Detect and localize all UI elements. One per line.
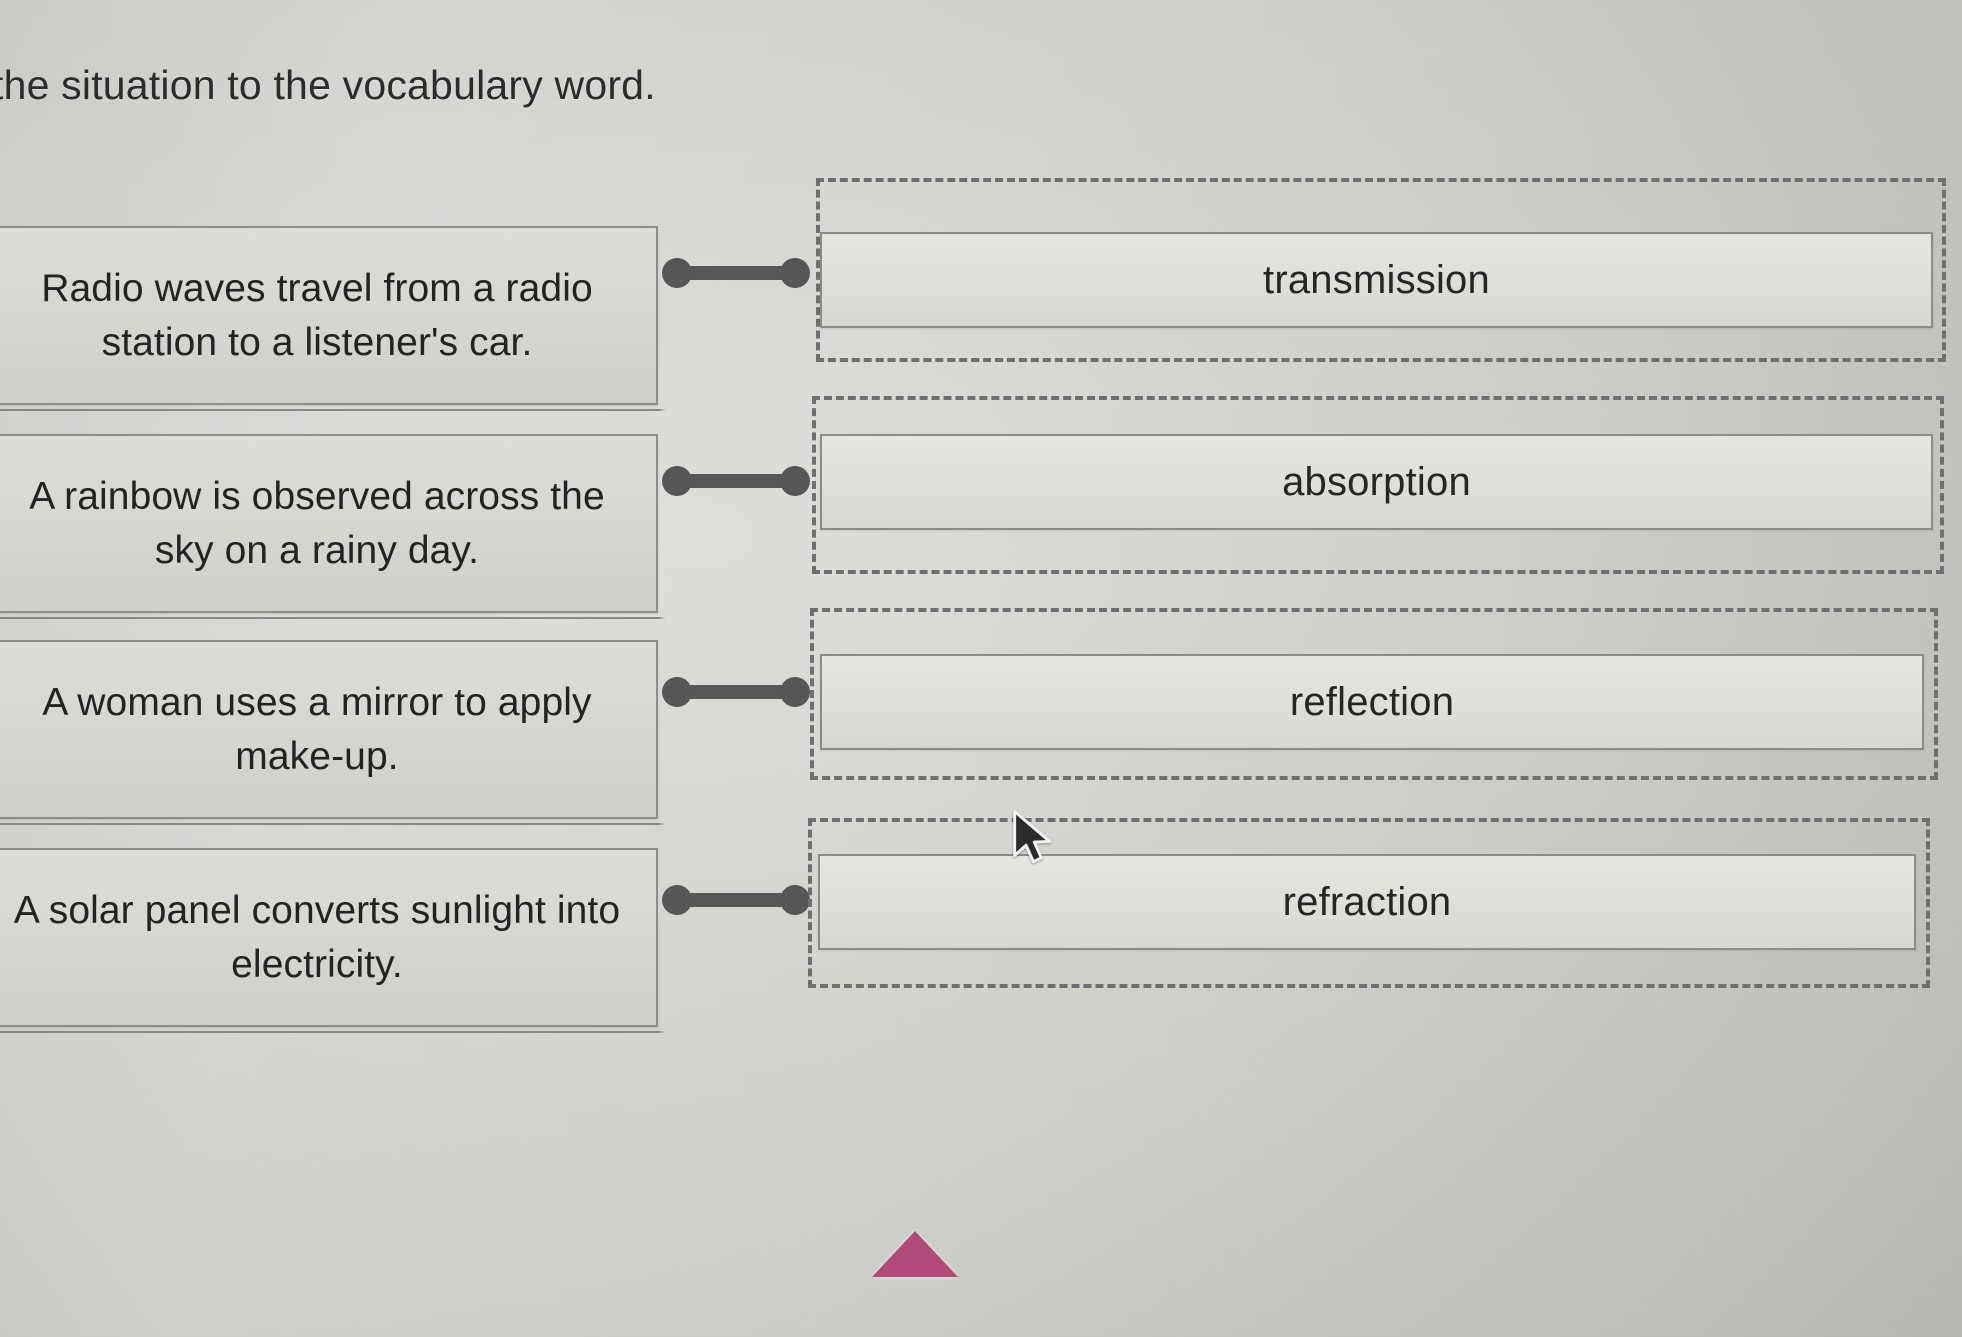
ruled-line-1 xyxy=(0,409,666,411)
situation-line-1a: Radio waves travel from a radio xyxy=(41,267,593,310)
vocabulary-box-2[interactable]: absorption xyxy=(820,434,1933,530)
worksheet-page: the situation to the vocabulary word. Ra… xyxy=(0,0,1962,1337)
connector-knob-left-2[interactable] xyxy=(662,466,692,496)
connector-knob-left-4[interactable] xyxy=(662,885,692,915)
connector-knob-right-2[interactable] xyxy=(780,466,810,496)
situation-line-4a: A solar panel converts sunlight into xyxy=(14,889,620,932)
connector-knob-left-3[interactable] xyxy=(662,677,692,707)
connector-knob-right-4[interactable] xyxy=(780,885,810,915)
vocabulary-label-4: refraction xyxy=(1283,880,1452,925)
connector-knob-right-1[interactable] xyxy=(780,258,810,288)
ruled-line-4 xyxy=(0,1031,666,1033)
situation-text-4: A solar panel converts sunlight into ele… xyxy=(14,884,620,992)
situation-line-1b: station to a listener's car. xyxy=(102,321,533,364)
instruction-text: the situation to the vocabulary word. xyxy=(0,62,656,109)
situation-row-2[interactable]: A rainbow is observed across the sky on … xyxy=(0,434,658,613)
situation-text-1: Radio waves travel from a radio station … xyxy=(41,262,593,370)
match-connector-3[interactable] xyxy=(662,677,810,707)
vocabulary-dropzone-3[interactable]: reflection xyxy=(810,608,1938,780)
vocabulary-box-3[interactable]: reflection xyxy=(820,654,1924,750)
situation-box-3[interactable]: A woman uses a mirror to apply make-up. xyxy=(0,640,658,819)
situation-box-1[interactable]: Radio waves travel from a radio station … xyxy=(0,226,658,405)
situation-line-2a: A rainbow is observed across the xyxy=(29,475,605,518)
vocabulary-label-3: reflection xyxy=(1290,680,1454,725)
situation-line-4b: electricity. xyxy=(231,943,403,986)
situation-row-3[interactable]: A woman uses a mirror to apply make-up. xyxy=(0,640,658,819)
vocabulary-dropzone-1[interactable]: transmission xyxy=(816,178,1946,362)
vocabulary-box-1[interactable]: transmission xyxy=(820,232,1933,328)
situation-line-2b: sky on a rainy day. xyxy=(155,529,479,572)
ruled-line-3 xyxy=(0,823,666,825)
situation-row-4[interactable]: A solar panel converts sunlight into ele… xyxy=(0,848,658,1027)
vocabulary-label-2: absorption xyxy=(1282,460,1471,505)
vocabulary-row-3[interactable]: reflection xyxy=(810,608,1938,780)
vocabulary-row-2[interactable]: absorption xyxy=(812,396,1944,574)
vocabulary-dropzone-4[interactable]: refraction xyxy=(808,818,1930,988)
ruled-line-2 xyxy=(0,617,666,619)
situation-box-4[interactable]: A solar panel converts sunlight into ele… xyxy=(0,848,658,1027)
connector-knob-left-1[interactable] xyxy=(662,258,692,288)
match-connector-4[interactable] xyxy=(662,885,810,915)
connector-knob-right-3[interactable] xyxy=(780,677,810,707)
situation-row-1[interactable]: Radio waves travel from a radio station … xyxy=(0,226,658,405)
match-connector-2[interactable] xyxy=(662,466,810,496)
match-connector-1[interactable] xyxy=(662,258,810,288)
situation-text-2: A rainbow is observed across the sky on … xyxy=(29,470,605,578)
situation-box-2[interactable]: A rainbow is observed across the sky on … xyxy=(0,434,658,613)
vocabulary-label-1: transmission xyxy=(1263,258,1490,303)
triangle-up-icon xyxy=(872,1231,958,1277)
vocabulary-row-4[interactable]: refraction xyxy=(808,818,1930,988)
situation-line-3b: make-up. xyxy=(235,735,398,778)
vocabulary-box-4[interactable]: refraction xyxy=(818,854,1916,950)
situation-line-3a: A woman uses a mirror to apply xyxy=(42,681,591,724)
vocabulary-row-1[interactable]: transmission xyxy=(816,178,1946,362)
situation-text-3: A woman uses a mirror to apply make-up. xyxy=(42,676,591,784)
vocabulary-dropzone-2[interactable]: absorption xyxy=(812,396,1944,574)
mouse-pointer-icon xyxy=(1011,808,1055,870)
